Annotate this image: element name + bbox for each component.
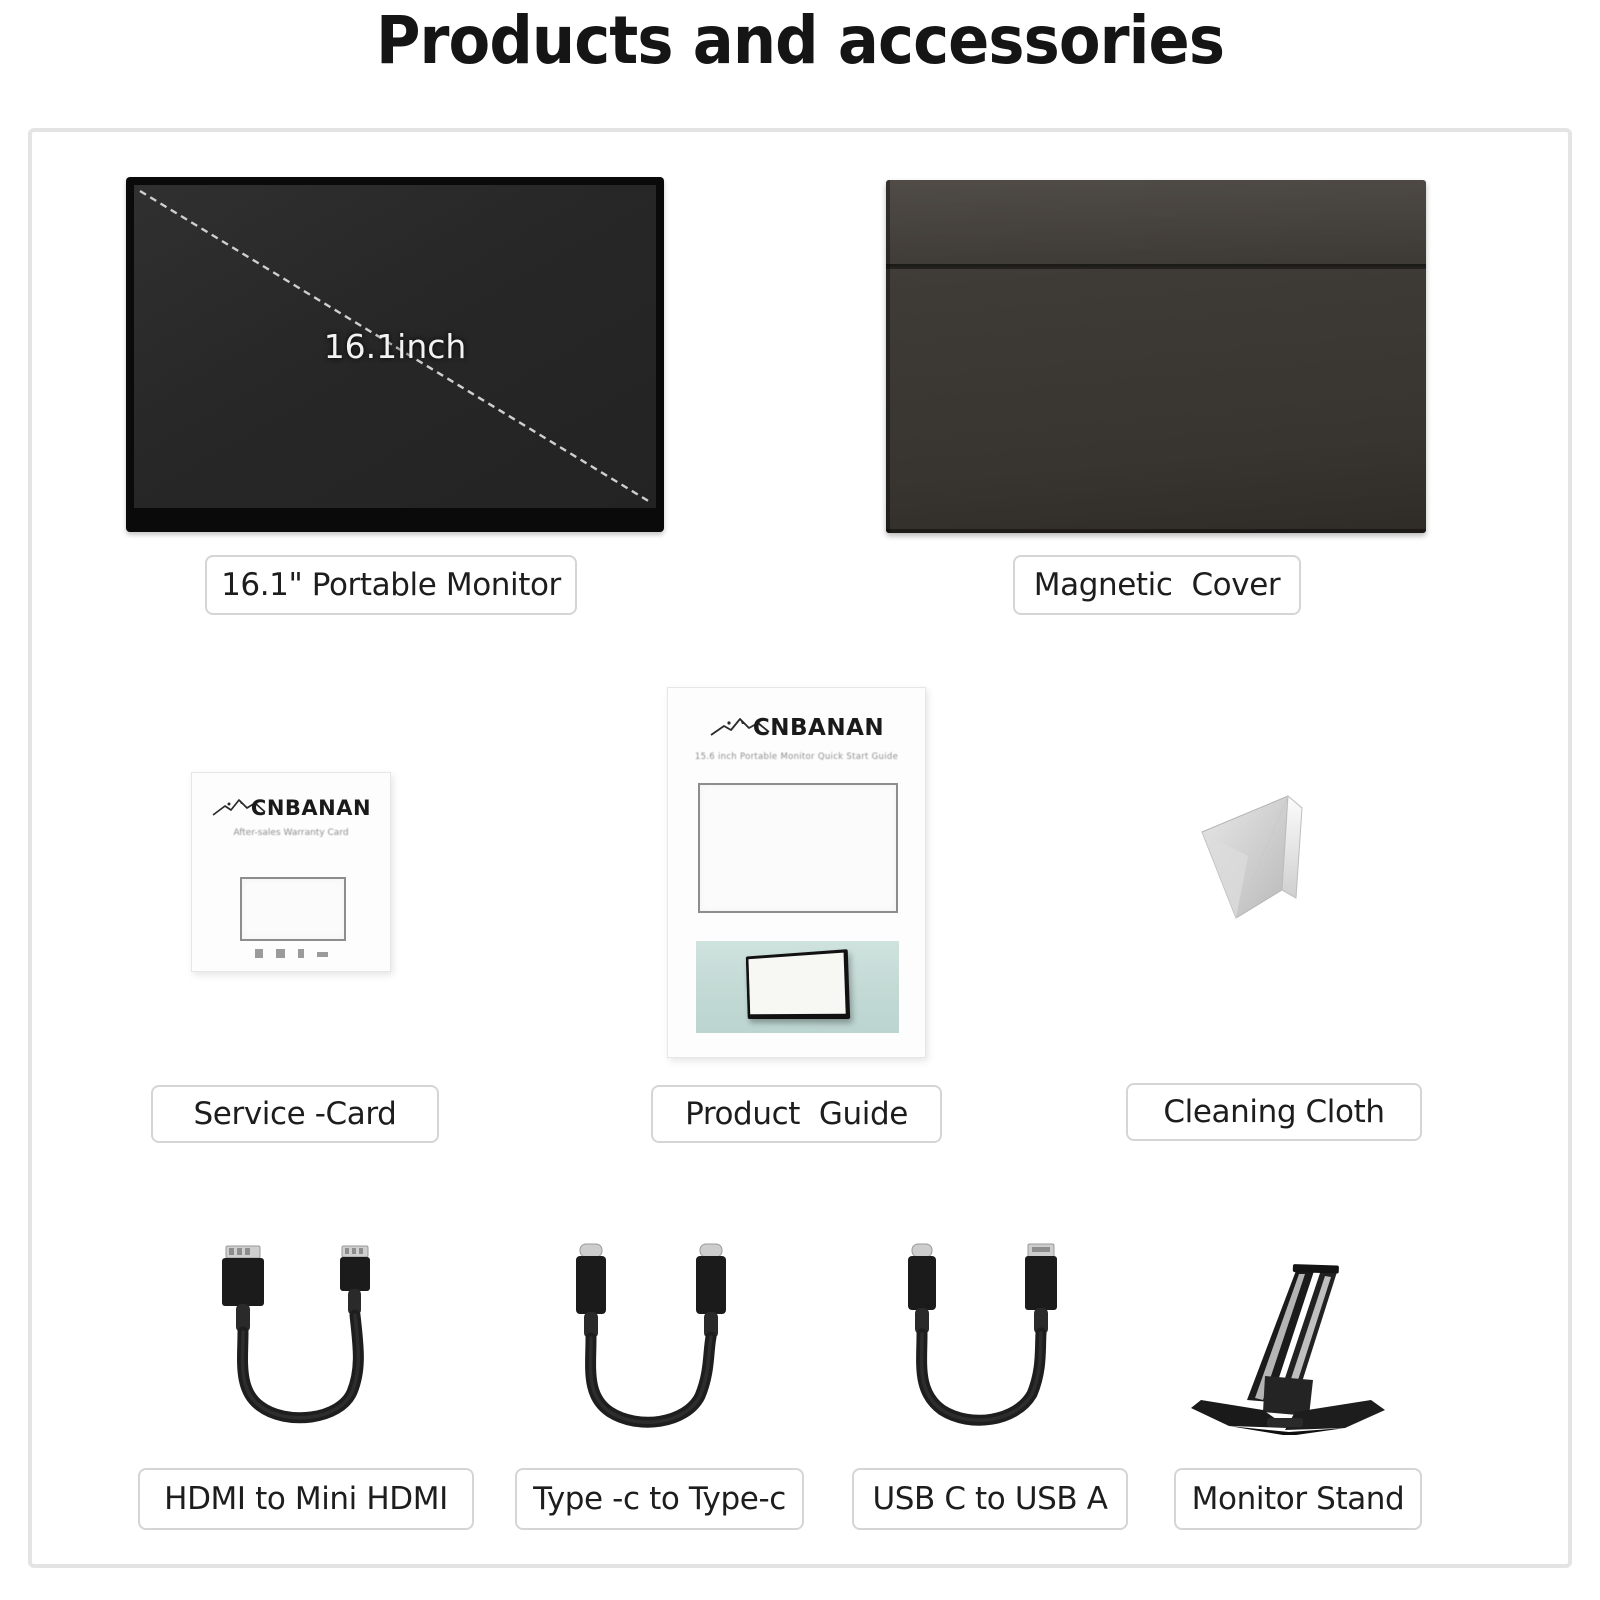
product-accessories-poster: Products and accessories 16.1inch 16.1" … xyxy=(0,0,1600,1600)
service-card-subtitle: After-sales Warranty Card xyxy=(233,828,348,838)
guide-subtitle: 15.6 inch Portable Monitor Quick Start G… xyxy=(695,752,898,762)
card-icon-2 xyxy=(276,949,285,958)
cover-left-edge xyxy=(886,180,890,533)
cover-seam xyxy=(886,264,1426,269)
hdmi-cable-image xyxy=(190,1240,410,1440)
caption-typec-cable: Type -c to Type-c xyxy=(515,1468,804,1530)
guide-monitor-outline xyxy=(698,783,898,913)
service-card-inner-box xyxy=(240,877,346,941)
screen-size-label: 16.1inch xyxy=(134,327,656,366)
guide-photo-panel xyxy=(696,941,899,1033)
magnetic-cover-image xyxy=(886,180,1426,533)
product-guide-image: CNBANAN 15.6 inch Portable Monitor Quick… xyxy=(667,687,926,1058)
guide-tilted-monitor-photo xyxy=(746,949,850,1019)
caption-monitor-stand: Monitor Stand xyxy=(1174,1468,1422,1530)
caption-product-guide: Product Guide xyxy=(651,1085,942,1143)
caption-cleaning-cloth: Cleaning Cloth xyxy=(1126,1083,1422,1141)
typec-cable-image xyxy=(552,1240,772,1440)
service-card-logo-row: CNBANAN xyxy=(211,795,371,819)
usbc-usba-cable-shape xyxy=(886,1240,1106,1440)
service-card-image: CNBANAN After-sales Warranty Card xyxy=(191,772,391,972)
typec-cable-shape xyxy=(552,1240,772,1440)
cleaning-cloth-image xyxy=(1196,790,1326,930)
guide-brand-name: CNBANAN xyxy=(753,717,884,740)
card-icon-3 xyxy=(298,949,304,958)
caption-service-card: Service -Card xyxy=(151,1085,439,1143)
monitor-screen: 16.1inch xyxy=(134,185,656,508)
folded-cloth-shape xyxy=(1196,790,1326,930)
hdmi-cable-shape xyxy=(190,1240,410,1440)
monitor-stand-image xyxy=(1185,1250,1400,1435)
service-card-brand-block: CNBANAN After-sales Warranty Card xyxy=(192,795,390,838)
cover-highlight xyxy=(886,180,1426,262)
caption-hdmi-cable: HDMI to Mini HDMI xyxy=(138,1468,474,1530)
guide-brand-block: CNBANAN 15.6 inch Portable Monitor Quick… xyxy=(668,714,925,762)
card-icon-1 xyxy=(255,949,263,958)
usbc-usba-cable-image xyxy=(886,1240,1106,1440)
service-card-icon-row xyxy=(192,949,390,958)
card-icon-4 xyxy=(317,952,328,957)
caption-portable-monitor: 16.1" Portable Monitor xyxy=(205,555,577,615)
page-title: Products and accessories xyxy=(64,2,1536,79)
caption-usbc-usba-cable: USB C to USB A xyxy=(852,1468,1128,1530)
caption-magnetic-cover: Magnetic Cover xyxy=(1013,555,1301,615)
guide-logo-row: CNBANAN xyxy=(709,714,884,740)
folding-stand-shape xyxy=(1185,1250,1400,1435)
portable-monitor-image: 16.1inch xyxy=(126,177,664,532)
cover-bottom-edge xyxy=(886,529,1426,533)
service-card-brand-name: CNBANAN xyxy=(251,798,371,819)
